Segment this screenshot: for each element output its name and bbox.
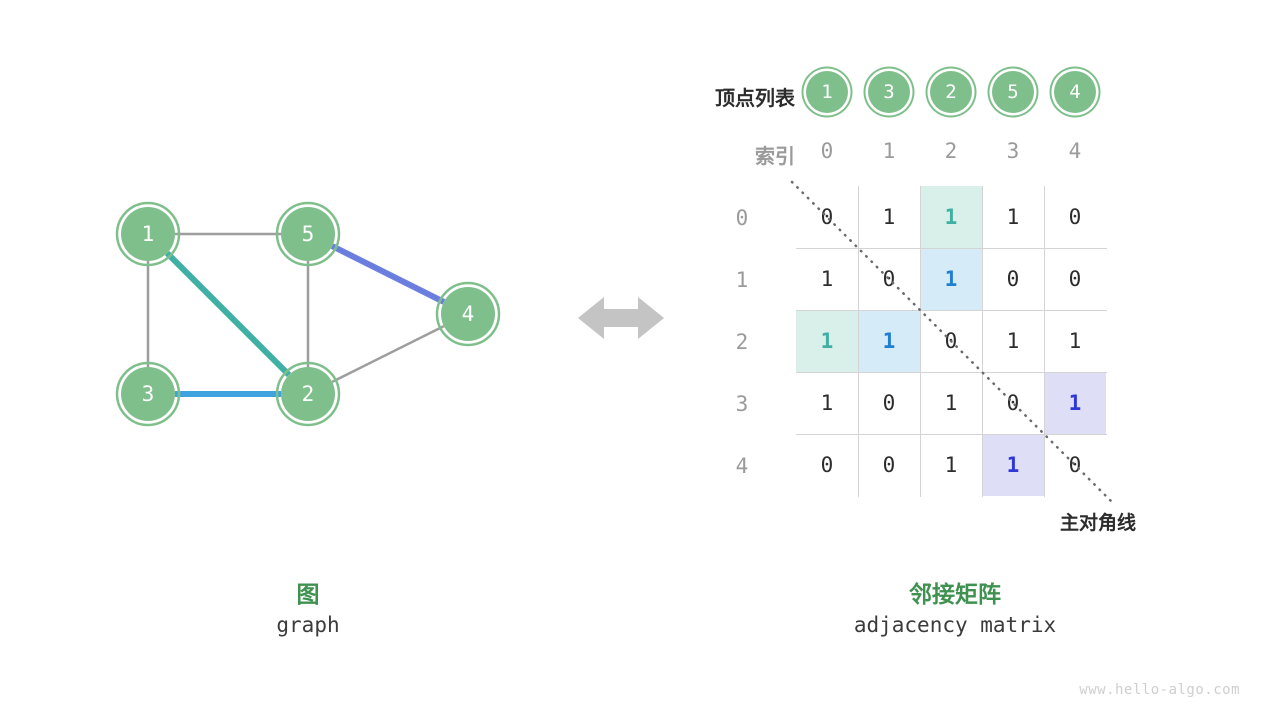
row-index-0: 0: [711, 206, 773, 230]
matrix-cell-0-4[interactable]: 0: [1044, 186, 1106, 248]
matrix-cell-2-4[interactable]: 1: [1044, 310, 1106, 372]
matrix-cell-3-2[interactable]: 1: [920, 372, 982, 434]
matrix-cell-0-1[interactable]: 1: [858, 186, 920, 248]
column-index-0: 0: [796, 139, 858, 163]
matrix-cell-0-3[interactable]: 1: [982, 186, 1044, 248]
adjacency-matrix-grid: 0111010100110111010100110: [796, 186, 1107, 497]
graph-caption-cn: 图: [208, 575, 408, 609]
graph-caption-en: graph: [208, 613, 408, 637]
vertex-list-item-4[interactable]: 4: [1054, 71, 1096, 113]
graph-edge-5-4: [332, 246, 444, 302]
row-index-4: 4: [711, 454, 773, 478]
vertex-list-item-5[interactable]: 5: [992, 71, 1034, 113]
vertex-list-label: 顶点列表: [640, 82, 795, 111]
matrix-cell-2-3[interactable]: 1: [982, 310, 1044, 372]
row-index-3: 3: [711, 392, 773, 416]
matrix-cell-1-3[interactable]: 0: [982, 248, 1044, 310]
graph-node-2[interactable]: [281, 367, 335, 421]
matrix-cell-2-0[interactable]: 1: [796, 310, 858, 372]
vertex-list-item-3[interactable]: 3: [868, 71, 910, 113]
graph-canvas: [0, 0, 600, 720]
column-index-4: 4: [1044, 139, 1106, 163]
matrix-cell-2-2[interactable]: 0: [920, 310, 982, 372]
graph-edge-1-2: [167, 253, 289, 375]
matrix-caption-en: adjacency matrix: [805, 613, 1105, 637]
matrix-cell-0-2[interactable]: 1: [920, 186, 982, 248]
matrix-cell-1-0[interactable]: 1: [796, 248, 858, 310]
column-index-3: 3: [982, 139, 1044, 163]
graph-node-3[interactable]: [121, 367, 175, 421]
matrix-cell-3-0[interactable]: 1: [796, 372, 858, 434]
matrix-cell-3-3[interactable]: 0: [982, 372, 1044, 434]
matrix-cell-1-4[interactable]: 0: [1044, 248, 1106, 310]
matrix-caption-cn: 邻接矩阵: [855, 575, 1055, 609]
matrix-cell-2-1[interactable]: 1: [858, 310, 920, 372]
matrix-cell-4-0[interactable]: 0: [796, 434, 858, 496]
vertex-list-item-1[interactable]: 1: [806, 71, 848, 113]
graph-node-5[interactable]: [281, 207, 335, 261]
matrix-cell-1-2[interactable]: 1: [920, 248, 982, 310]
main-diagonal-label: 主对角线: [1060, 508, 1136, 535]
matrix-panel: 顶点列表 13254 索引 01234 01234 01110101001101…: [640, 0, 1280, 720]
column-index-1: 1: [858, 139, 920, 163]
column-index-2: 2: [920, 139, 982, 163]
matrix-cell-3-1[interactable]: 0: [858, 372, 920, 434]
row-index-2: 2: [711, 330, 773, 354]
matrix-cell-0-0[interactable]: 0: [796, 186, 858, 248]
graph-edge-2-4: [332, 326, 444, 382]
matrix-cell-3-4[interactable]: 1: [1044, 372, 1106, 434]
row-index-1: 1: [711, 268, 773, 292]
vertex-list-item-2[interactable]: 2: [930, 71, 972, 113]
graph-node-4[interactable]: [441, 287, 495, 341]
matrix-cell-4-3[interactable]: 1: [982, 434, 1044, 496]
watermark: www.hello-algo.com: [1079, 682, 1240, 698]
matrix-cell-4-4[interactable]: 0: [1044, 434, 1106, 496]
matrix-cell-4-1[interactable]: 0: [858, 434, 920, 496]
matrix-cell-1-1[interactable]: 0: [858, 248, 920, 310]
matrix-cell-4-2[interactable]: 1: [920, 434, 982, 496]
graph-node-1[interactable]: [121, 207, 175, 261]
index-label: 索引: [640, 140, 795, 169]
graph-panel: 15432 图 graph: [0, 0, 600, 720]
